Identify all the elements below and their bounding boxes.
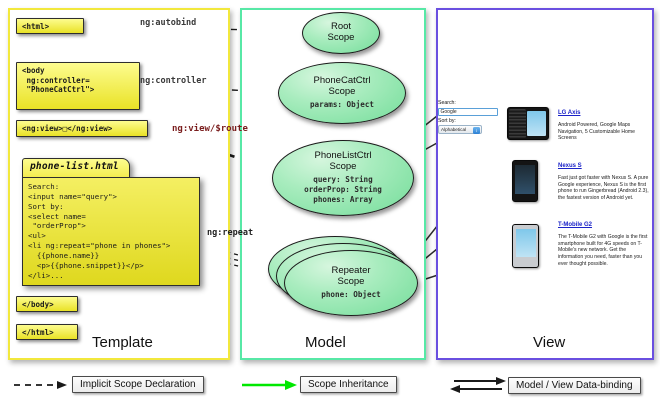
green-arrow-icon [240, 378, 300, 392]
sort-select[interactable]: Alphabetical ↕ [438, 125, 482, 134]
column-label-view: View [533, 334, 565, 351]
tag-body-open: <body ng:controller= "PhoneCatCtrl"> [16, 62, 140, 110]
phone-list-note: phone-list.html Search: <input name="que… [22, 158, 200, 286]
phone-image-nexus-s [512, 160, 538, 202]
scope-repeater: RepeaterScope phone: Object [284, 250, 418, 316]
label-ng-controller: ng:controller [140, 76, 207, 86]
phone-link-nexus-s[interactable]: Nexus S [558, 163, 582, 169]
screen-detail [527, 111, 546, 136]
legend-label-implicit-scope: Implicit Scope Declaration [72, 376, 204, 393]
view-search-widget: Search: Google Sort by: Alphabetical ↕ [438, 100, 500, 134]
scope-phonelistctrl-name: PhoneListCtrlScope [314, 151, 371, 172]
screen-detail [516, 229, 536, 257]
phone-snippet-nexus-s: Fast just got faster with Nexus S. A pur… [558, 175, 650, 202]
screen-detail [515, 165, 535, 194]
phone-link-lg-axis[interactable]: LG Axis [558, 110, 580, 116]
keyboard-detail [509, 109, 526, 138]
scope-phonelistctrl-props: query: String orderProp: String phones: … [304, 175, 382, 205]
chevron-updown-icon: ↕ [473, 127, 480, 134]
sort-select-value: Alphabetical [441, 127, 466, 132]
phone-image-lg-axis [507, 107, 549, 140]
search-input[interactable]: Google [438, 108, 498, 116]
scope-repeater-name: RepeaterScope [331, 266, 370, 287]
dashed-arrow-icon [12, 378, 72, 392]
sort-label: Sort by: [438, 118, 500, 125]
scope-phonecatctrl-props: params: Object [310, 100, 374, 110]
note-title: phone-list.html [30, 161, 119, 172]
scope-root-name: RootScope [328, 22, 355, 43]
legend-item-implicit-scope: Implicit Scope Declaration [12, 376, 204, 393]
phone-snippet-t-mobile-g2: The T-Mobile G2 with Google is the first… [558, 234, 650, 268]
legend-item-scope-inheritance: Scope Inheritance [240, 376, 397, 393]
phone-snippet-lg-axis: Android Powered, Google Maps Navigation,… [558, 122, 650, 142]
label-ng-view-route: ng:view/$route [172, 124, 248, 134]
double-arrow-icon [448, 376, 508, 394]
label-ng-repeat: ng:repeat [207, 228, 253, 238]
tag-ng-view: <ng:view>□</ng:view> [16, 120, 148, 137]
legend: Implicit Scope Declaration Scope Inherit… [0, 368, 660, 405]
column-label-template: Template [92, 334, 153, 351]
phone-link-t-mobile-g2[interactable]: T-Mobile G2 [558, 222, 592, 228]
note-code: Search: <input name="query"> Sort by: <s… [28, 182, 194, 280]
scope-phonecatctrl: PhoneCatCtrlScope params: Object [278, 62, 406, 124]
tag-html-close: </html> [16, 324, 78, 340]
phone-image-t-mobile-g2 [512, 224, 539, 268]
tag-html-open: <html> [16, 18, 84, 34]
search-label: Search: [438, 100, 500, 107]
scope-repeater-props: phone: Object [321, 290, 380, 300]
tag-body-close: </body> [16, 296, 78, 312]
legend-label-data-binding: Model / View Data-binding [508, 377, 641, 394]
legend-label-scope-inheritance: Scope Inheritance [300, 376, 397, 393]
diagram-canvas: Template Model View <html> <body ng:cont… [0, 0, 660, 405]
legend-item-data-binding: Model / View Data-binding [448, 376, 641, 394]
scope-phonecatctrl-name: PhoneCatCtrlScope [313, 76, 370, 97]
scope-phonelistctrl: PhoneListCtrlScope query: String orderPr… [272, 140, 414, 216]
note-body: Search: <input name="query"> Sort by: <s… [22, 177, 200, 286]
search-input-value: Google [441, 109, 457, 115]
scope-root: RootScope [302, 12, 380, 54]
label-ng-autobind: ng:autobind [140, 18, 196, 28]
column-label-model: Model [305, 334, 346, 351]
